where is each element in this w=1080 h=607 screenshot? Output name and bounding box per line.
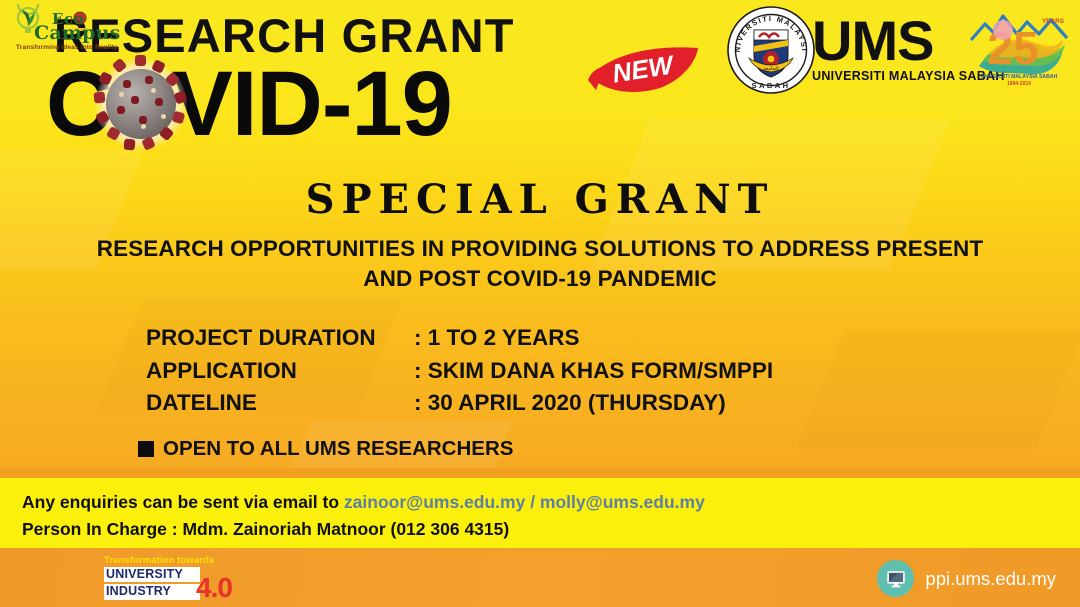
industry-line-2: INDUSTRY — [104, 584, 200, 600]
industry-line-1: UNIVERSITY — [104, 567, 200, 583]
detail-row: APPLICATION : SKIM DANA KHAS FORM/SMPPI — [146, 355, 773, 388]
enquiry-line: Any enquiries can be sent via email to z… — [22, 489, 1080, 516]
industry-tagline: Transformation towards — [104, 556, 232, 566]
email-separator: / — [525, 492, 540, 512]
eco-tagline: Transforming Ideas into Reality — [16, 44, 117, 51]
eligibility-note: OPEN TO ALL UMS RESEARCHERS — [138, 437, 513, 461]
website-url[interactable]: ppi.ums.edu.my — [925, 568, 1056, 590]
industry-stack: UNIVERSITY INDUSTRY 4.0 — [104, 567, 200, 600]
email-link-2[interactable]: molly@ums.edu.my — [540, 492, 705, 512]
ums-fullname: UNIVERSITI MALAYSIA SABAH — [812, 69, 972, 83]
enquiry-prefix: Any enquiries can be sent via email to — [22, 492, 344, 512]
eco-name-bottom: Campus — [34, 22, 121, 44]
detail-label: APPLICATION — [146, 355, 414, 388]
detail-row: DATELINE : 30 APRIL 2020 (THURSDAY) — [146, 387, 773, 420]
lead-line-1: RESEARCH OPPORTUNITIES IN PROVIDING SOLU… — [52, 234, 1028, 264]
detail-value: : 30 APRIL 2020 (THURSDAY) — [414, 387, 726, 420]
svg-text:UNIVERSITI MALAYSIA SABAH: UNIVERSITI MALAYSIA SABAH — [981, 74, 1058, 80]
email-link-1[interactable]: zainoor@ums.edu.my — [344, 492, 525, 512]
ums-crest-icon: UNIVERSITI MALAYSIA SABAH الجامعة — [727, 6, 815, 94]
anniversary-25-logo: 25 YEARS UNIVERSITI MALAYSIA SABAH 1994-… — [967, 4, 1071, 92]
detail-label: DATELINE — [146, 387, 414, 420]
detail-label: PROJECT DURATION — [146, 322, 414, 355]
details-list: PROJECT DURATION : 1 TO 2 YEARS APPLICAT… — [146, 322, 773, 420]
lead-line-2: AND POST COVID-19 PANDEMIC — [52, 264, 1028, 294]
covid-suffix-letters: VID-19 — [171, 62, 451, 147]
detail-value: : SKIM DANA KHAS FORM/SMPPI — [414, 355, 773, 388]
coronavirus-icon — [95, 58, 187, 150]
square-bullet-icon — [138, 441, 154, 457]
special-grant-heading: SPECIAL GRANT — [0, 176, 1080, 223]
industry-40-logo: Transformation towards UNIVERSITY INDUST… — [104, 556, 232, 600]
detail-row: PROJECT DURATION : 1 TO 2 YEARS — [146, 322, 773, 355]
svg-text:الجامعة: الجامعة — [763, 66, 778, 72]
svg-text:YEARS: YEARS — [1042, 18, 1065, 25]
ums-acronym: UMS — [812, 14, 972, 67]
monitor-icon — [877, 560, 914, 597]
svg-text:SABAH: SABAH — [751, 81, 790, 90]
ums-wordmark: UMS UNIVERSITI MALAYSIA SABAH — [812, 14, 972, 83]
new-badge: NEW — [586, 36, 704, 98]
person-in-charge: Person In Charge : Mdm. Zainoriah Matnoo… — [22, 516, 1080, 543]
eligibility-label: OPEN TO ALL UMS RESEARCHERS — [163, 437, 513, 461]
industry-version: 4.0 — [196, 575, 232, 600]
website-link[interactable]: ppi.ums.edu.my — [877, 560, 1056, 597]
detail-value: : 1 TO 2 YEARS — [414, 322, 579, 355]
eco-campus-logo: Eco Campus Transforming Ideas into Reali… — [14, 4, 110, 56]
covid-wordmark: C VID-19 — [46, 58, 452, 150]
svg-text:1994-2019: 1994-2019 — [1007, 81, 1031, 87]
contact-bar-top-divider — [0, 468, 1080, 478]
lead-description: RESEARCH OPPORTUNITIES IN PROVIDING SOLU… — [52, 234, 1028, 293]
poster-root: RESEARCH GRANT C — [0, 0, 1080, 607]
contact-bar: Any enquiries can be sent via email to z… — [0, 478, 1080, 548]
